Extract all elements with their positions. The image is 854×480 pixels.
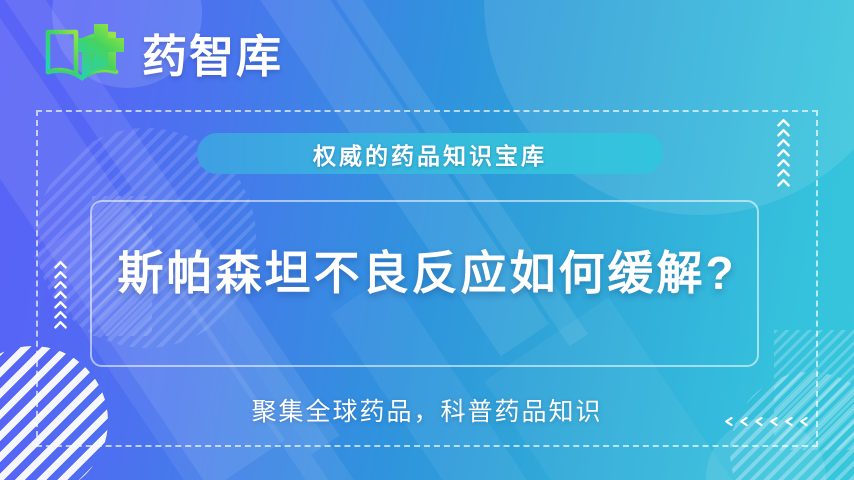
promotional-banner: 药智库 权威的药品知识宝库 斯帕森坦不良反应如何缓解? 聚集全球药品，科普药品知… [0, 0, 854, 480]
chevron-up-icon [777, 118, 790, 127]
chevron-left-icon [722, 417, 735, 426]
chevron-up-icon [777, 158, 790, 167]
brand-wordmark: 药智库 [142, 34, 283, 79]
page-title: 斯帕森坦不良反应如何缓解? [117, 248, 736, 299]
chevron-up-icon [54, 310, 67, 319]
chevron-up-icon [54, 290, 67, 299]
chevron-up-icon [777, 148, 790, 157]
chevron-group-bottom [722, 417, 810, 426]
chevron-left-icon [797, 417, 810, 426]
chevron-up-icon [54, 280, 67, 289]
chevron-left-icon [767, 417, 780, 426]
chevron-left-icon [752, 417, 765, 426]
subtitle-pill-text: 权威的药品知识宝库 [313, 137, 547, 171]
chevron-up-icon [777, 168, 790, 177]
chevron-up-icon [777, 128, 790, 137]
tagline-text: 聚集全球药品，科普药品知识 [251, 392, 602, 428]
subtitle-pill-banner: 权威的药品知识宝库 [197, 133, 663, 174]
chevron-group-right [777, 118, 790, 187]
chevron-up-icon [777, 178, 790, 187]
chevron-group-left [54, 260, 67, 329]
open-book-with-cross-logo-icon [42, 22, 128, 90]
chevron-up-icon [777, 138, 790, 147]
headline-container: 斯帕森坦不良反应如何缓解? [0, 248, 854, 299]
chevron-up-icon [54, 300, 67, 309]
chevron-up-icon [54, 260, 67, 269]
chevron-up-icon [54, 320, 67, 329]
brand-logo: 药智库 [42, 22, 283, 90]
chevron-up-icon [54, 270, 67, 279]
chevron-left-icon [782, 417, 795, 426]
chevron-left-icon [737, 417, 750, 426]
